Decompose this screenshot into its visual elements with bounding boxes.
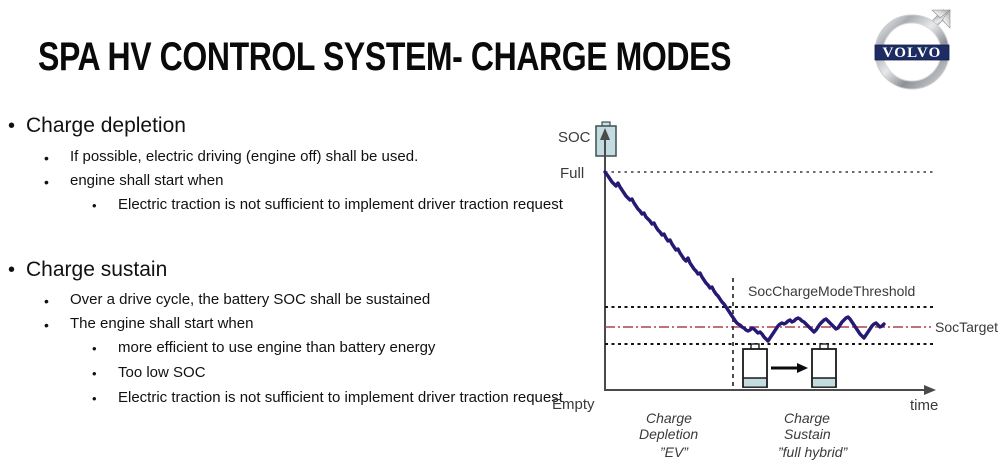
phase-depletion-line3: ”EV”: [660, 444, 689, 460]
bullet-marker: •: [8, 260, 15, 280]
page-title: SPA HV CONTROL SYSTEM- CHARGE MODES: [38, 34, 731, 80]
bullet-item: • Charge sustain: [0, 258, 600, 291]
bullet-marker: •: [92, 198, 97, 214]
slide-canvas: SPA HV CONTROL SYSTEM- CHARGE MODES: [0, 0, 1000, 467]
phase-label-charge-sustain: Charge Sustain ”full hybrid”: [778, 410, 849, 460]
phase-sustain-line1: Charge: [784, 410, 830, 426]
bullet-marker: •: [44, 150, 49, 166]
bullet-marker: •: [92, 341, 97, 357]
volvo-wordmark: VOLVO: [882, 45, 941, 61]
x-axis-arrow: [924, 385, 936, 395]
bullet-marker: •: [8, 116, 15, 136]
x-axis-title: time: [910, 397, 938, 414]
bullet-text: Over a drive cycle, the battery SOC shal…: [70, 291, 430, 309]
phase-depletion-line1: Charge: [646, 410, 692, 426]
volvo-logo: VOLVO: [872, 4, 960, 92]
bullet-item: • If possible, electric driving (engine …: [0, 148, 600, 172]
bullet-item: • more efficient to use engine than batt…: [0, 339, 600, 364]
phase-label-charge-depletion: Charge Depletion ”EV”: [639, 410, 698, 460]
bullet-spacer: [0, 222, 600, 258]
bullet-text: more efficient to use engine than batter…: [118, 339, 435, 357]
phase-depletion-line2: Depletion: [639, 426, 698, 442]
y-axis-title: SOC: [558, 129, 591, 146]
soc-chart: SOC Full Empty time: [550, 110, 1000, 467]
y-tick-empty: Empty: [552, 396, 595, 413]
bullet-list: • Charge depletion • If possible, electr…: [0, 114, 600, 414]
phase-sustain-line2: Sustain: [784, 426, 831, 442]
volvo-iron-mark-icon: VOLVO: [872, 4, 960, 92]
bullet-marker: •: [92, 391, 97, 407]
soc-charge-mode-threshold-label: SocChargeModeThreshold: [748, 283, 915, 299]
bullet-item: • engine shall start when: [0, 172, 600, 196]
bullet-item: • The engine shall start when: [0, 315, 600, 339]
bullet-item: • Over a drive cycle, the battery SOC sh…: [0, 291, 600, 315]
battery-low-icon-before: [743, 344, 767, 387]
bullet-text: Electric traction is not sufficient to i…: [118, 196, 563, 214]
bullet-item: • Electric traction is not sufficient to…: [0, 196, 600, 222]
bullet-text: Too low SOC: [118, 364, 206, 382]
bullet-item: • Too low SOC: [0, 364, 600, 389]
soc-chart-svg: SOC Full Empty time: [550, 110, 1000, 467]
bullet-marker: •: [44, 317, 49, 333]
bullet-item: • Charge depletion: [0, 114, 600, 148]
bullet-marker: •: [44, 174, 49, 190]
bullet-text: Charge sustain: [26, 258, 167, 282]
battery-low-icon-after: [812, 344, 836, 387]
bullet-text: If possible, electric driving (engine of…: [70, 148, 418, 166]
bullet-text: Charge depletion: [26, 114, 186, 138]
bullet-text: Electric traction is not sufficient to i…: [118, 389, 563, 407]
bullet-text: engine shall start when: [70, 172, 223, 190]
bullet-marker: •: [44, 293, 49, 309]
y-tick-full: Full: [560, 165, 584, 182]
bullet-marker: •: [92, 366, 97, 382]
phase-sustain-line3: ”full hybrid”: [778, 444, 849, 460]
bullet-item: • Electric traction is not sufficient to…: [0, 389, 600, 414]
soc-curve: [605, 172, 884, 341]
battery-transition-arrow-icon: [771, 363, 808, 373]
bullet-text: The engine shall start when: [70, 315, 253, 333]
soc-target-label: SocTarget: [935, 319, 998, 335]
